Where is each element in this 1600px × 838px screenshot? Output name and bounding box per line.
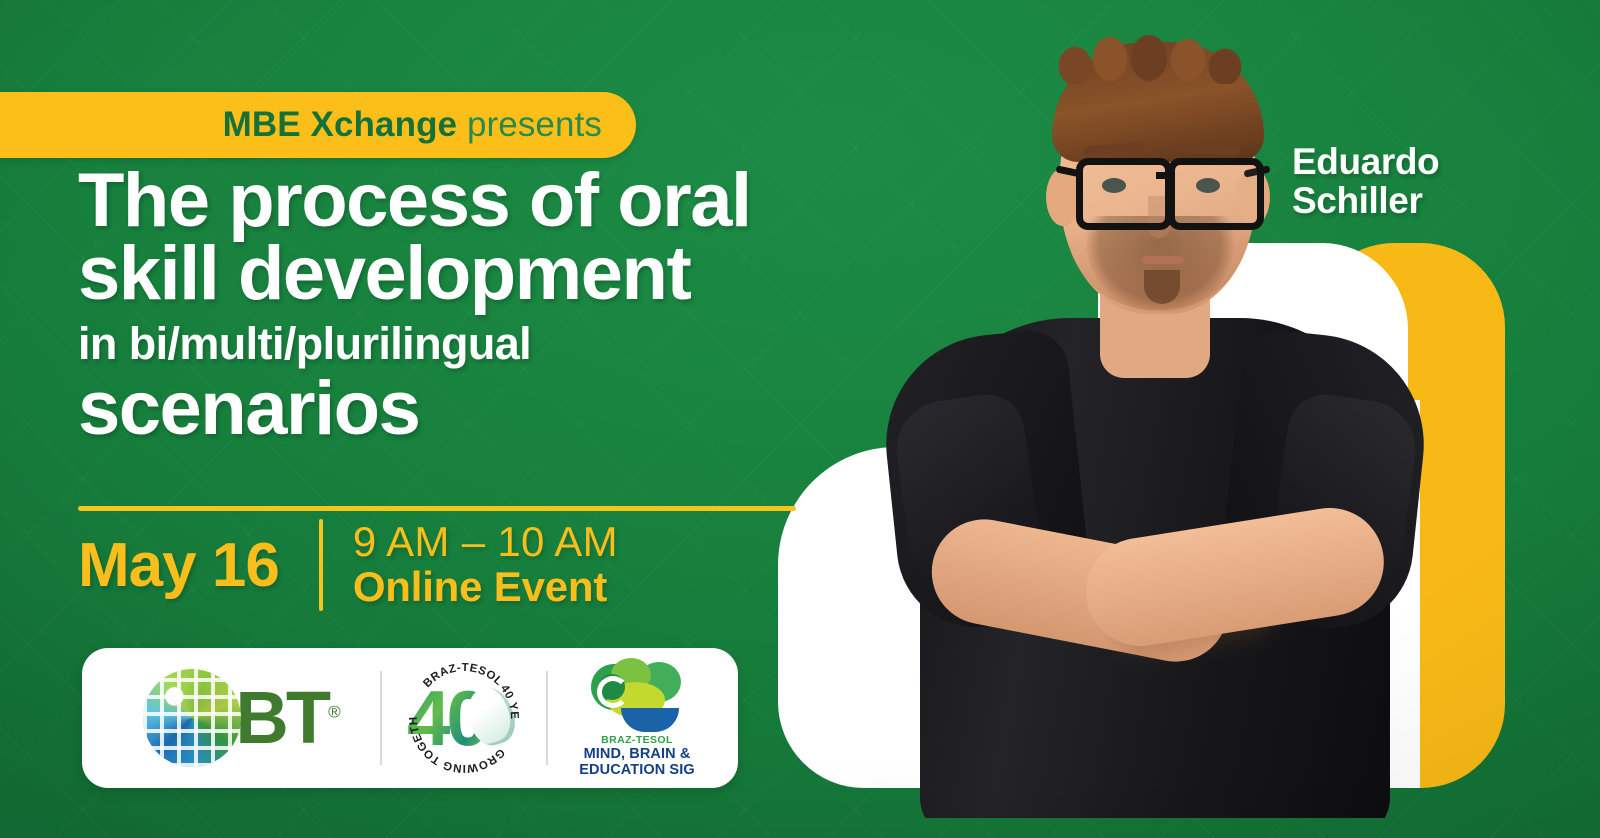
- ribbon-suffix: presents: [457, 105, 602, 144]
- event-poster: MBE Xchange presents The process of oral…: [0, 0, 1600, 838]
- bt-wordmark: BT®: [235, 681, 340, 755]
- speaker-first-name: Eduardo: [1292, 142, 1439, 181]
- schedule-details: 9 AM – 10 AM Online Event: [353, 520, 618, 609]
- globe-mosaic-icon: [143, 669, 241, 767]
- braz-tesol-logo: BT®: [104, 648, 380, 788]
- anniversary-logo: 40 BRAZ-TESOL 40 YEARS GROWING TOGETHER: [382, 648, 546, 788]
- schedule-vertical-divider: [319, 519, 323, 611]
- anniversary-mark: 40 BRAZ-TESOL 40 YEARS GROWING TOGETHER: [403, 657, 525, 779]
- title-line-2: skill development: [78, 238, 978, 311]
- glasses-lens-left-icon: [1076, 158, 1172, 230]
- title-line-1: The process of oral: [78, 165, 978, 238]
- registered-mark-icon: ®: [328, 702, 341, 721]
- sig-org-name: BRAZ-TESOL: [601, 734, 673, 746]
- mbe-sig-logo: BRAZ-TESOL MIND, BRAIN & EDUCATION SIG: [548, 648, 726, 788]
- bt-letters: BT: [235, 676, 328, 759]
- sig-name-line-1: MIND, BRAIN &: [579, 746, 694, 762]
- mbe-sig-mark: BRAZ-TESOL MIND, BRAIN & EDUCATION SIG: [579, 658, 694, 778]
- ribbon-brand: MBE Xchange: [223, 105, 457, 144]
- anniversary-ring-text: BRAZ-TESOL 40 YEARS GROWING TOGETHER: [403, 657, 525, 779]
- sig-name-line-2: EDUCATION SIG: [579, 762, 694, 778]
- ribbon-text: MBE Xchange presents: [223, 105, 602, 145]
- event-time: 9 AM – 10 AM: [353, 520, 618, 565]
- logo-card: BT® 40 BRAZ-TESOL 40 YEARS GROWING TOGET…: [82, 648, 738, 788]
- presents-ribbon: MBE Xchange presents: [0, 92, 636, 158]
- brain-icon: [591, 658, 683, 730]
- speaker-name: Eduardo Schiller: [1292, 142, 1439, 220]
- event-date: May 16: [78, 530, 279, 601]
- ring-text-top: BRAZ-TESOL: [421, 662, 505, 690]
- yellow-divider-rule: [78, 506, 796, 511]
- photo-hair-spikes: [1058, 34, 1258, 84]
- event-mode: Online Event: [353, 565, 618, 610]
- schedule-block: May 16 9 AM – 10 AM Online Event: [78, 519, 618, 611]
- page-title: The process of oral skill development in…: [78, 165, 978, 446]
- photo-mouth: [1142, 256, 1184, 264]
- title-line-4: scenarios: [78, 372, 978, 446]
- title-line-3: in bi/multi/plurilingual: [78, 321, 978, 366]
- speaker-last-name: Schiller: [1292, 181, 1439, 220]
- ring-text-right: 40 YEARS: [403, 657, 520, 720]
- glasses-lens-right-icon: [1168, 158, 1264, 230]
- glasses-bridge-icon: [1156, 172, 1172, 179]
- sig-name: MIND, BRAIN & EDUCATION SIG: [579, 746, 694, 778]
